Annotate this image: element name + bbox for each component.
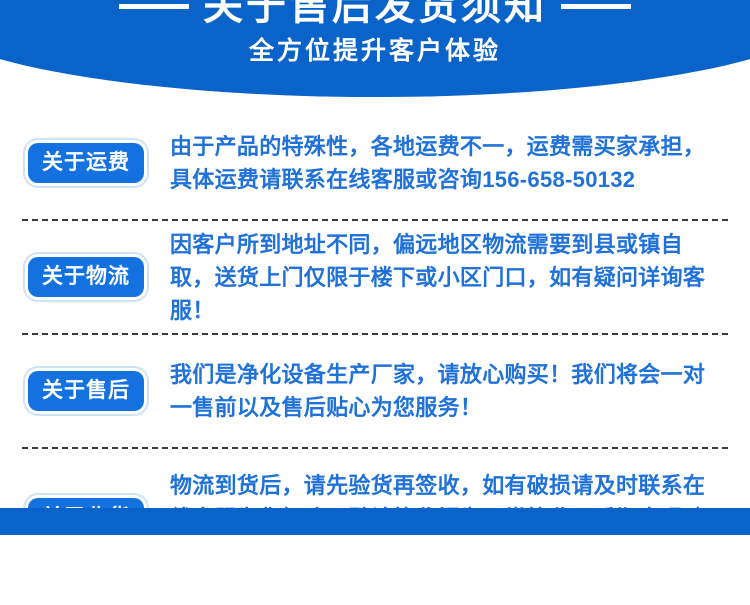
- notice-body-text: 由于产品的特殊性，各地运费不一，运费需买家承担，具体运费请联系在线客服或咨询15…: [170, 130, 724, 196]
- notice-badge-cell: 关于物流: [28, 257, 160, 297]
- row-spacer: [0, 431, 750, 447]
- notice-body-cell: 因客户所到地址不同，偏远地区物流需要到县或镇自取，送货上门仅限于楼下或小区门口，…: [160, 228, 724, 327]
- notice-badge-label: 关于运费: [42, 151, 130, 175]
- notice-row: 关于物流 因客户所到地址不同，偏远地区物流需要到县或镇自取，送货上门仅限于楼下或…: [0, 237, 750, 317]
- content-top-spacer: [0, 99, 750, 123]
- footer-bar: [0, 508, 750, 535]
- notice-body-text: 因客户所到地址不同，偏远地区物流需要到县或镇自取，送货上门仅限于楼下或小区门口，…: [170, 228, 724, 327]
- notice-badge-label: 关于售后: [42, 379, 130, 403]
- notice-badge-after-sales[interactable]: 关于售后: [28, 371, 144, 411]
- notice-body-cell: 由于产品的特殊性，各地运费不一，运费需买家承担，具体运费请联系在线客服或咨询15…: [160, 130, 724, 196]
- notice-badge-label: 关于物流: [42, 265, 130, 289]
- notice-badge-shipping-fee[interactable]: 关于运费: [28, 143, 144, 183]
- row-spacer: [0, 335, 750, 351]
- page-header: 关于售后发货须知 全方位提升客户体验: [0, 0, 750, 99]
- title-rule-right-icon: [561, 4, 631, 9]
- title-rule-left-icon: [119, 4, 189, 9]
- footer-blank-area: [0, 535, 750, 605]
- notice-badge-cell: 关于运费: [28, 143, 160, 183]
- notice-row: 关于运费 由于产品的特殊性，各地运费不一，运费需买家承担，具体运费请联系在线客服…: [0, 123, 750, 203]
- notice-body-cell: 我们是净化设备生产厂家，请放心购买！我们将会一对一售前以及售后贴心为您服务！: [160, 358, 724, 424]
- row-spacer: [0, 203, 750, 219]
- header-content: 关于售后发货须知 全方位提升客户体验: [0, 0, 750, 99]
- notice-row: 关于售后 我们是净化设备生产厂家，请放心购买！我们将会一对一售前以及售后贴心为您…: [0, 351, 750, 431]
- notice-body-text: 我们是净化设备生产厂家，请放心购买！我们将会一对一售前以及售后贴心为您服务！: [170, 358, 724, 424]
- page-subtitle: 全方位提升客户体验: [0, 36, 750, 66]
- row-spacer: [0, 449, 750, 463]
- notice-badge-cell: 关于售后: [28, 371, 160, 411]
- page-title: 关于售后发货须知: [203, 0, 547, 28]
- header-title-row: 关于售后发货须知: [0, 0, 750, 28]
- notice-badge-logistics[interactable]: 关于物流: [28, 257, 144, 297]
